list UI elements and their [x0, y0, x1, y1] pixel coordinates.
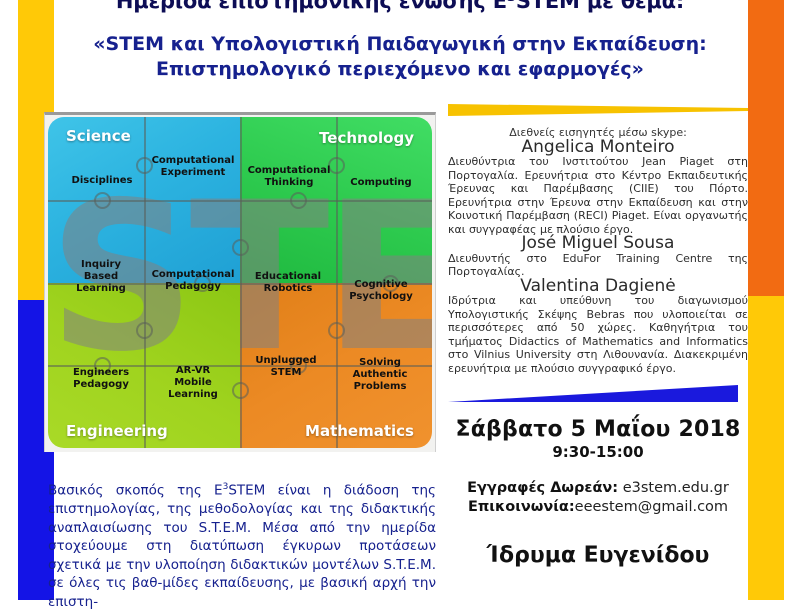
poster-header: Ημερίδα επιστημονικής ένωσης E³STEM με θ…: [60, 0, 740, 82]
right-decorative-bar: [748, 0, 784, 600]
quadrant-label-engineering: Engineering: [66, 422, 168, 440]
right-orange-segment: [748, 0, 784, 296]
speaker-name-1: Angelica Monteiro: [448, 141, 748, 155]
right-column: Διεθνείς εισηγητές μέσω skype: Angelica …: [448, 104, 748, 568]
puzzle-knob-7: [94, 192, 111, 209]
contact-email[interactable]: eeestem@gmail.com: [575, 499, 728, 515]
quadrant-label-mathematics: Mathematics: [305, 422, 414, 440]
puzzle-cell-computational-experiment: ComputationalExperiment: [145, 155, 241, 179]
speaker-entry-1: Angelica Monteiro Διευθύντρια του Ινστιτ…: [448, 141, 748, 237]
header-title-line-a: «STEM και Υπολογιστική Παιδαγωγική στην …: [60, 32, 740, 57]
speaker-name-2: José Miguel Sousa: [448, 237, 748, 251]
speaker-bio-1: Διευθύντρια του Ινστιτούτου Jean Piaget …: [448, 155, 748, 236]
header-title-line-b: Επιστημολογικό περιεχόμενο και εφαρμογές…: [60, 57, 740, 82]
puzzle-cell-unplugged-stem: UnpluggedSTEM: [238, 355, 334, 379]
speaker-entry-3: Valentina Dagienė Ιδρύτρια και υπεύθυνη …: [448, 280, 748, 376]
poster-body-text: Βασικός σκοπός της E3STEM είναι η διάδοσ…: [48, 478, 436, 611]
blue-wedge-divider: [448, 383, 748, 405]
venue-block: Ίδρυμα Ευγενίδου: [448, 543, 748, 568]
speakers-block: Διεθνείς εισηγητές μέσω skype: Angelica …: [448, 126, 748, 375]
puzzle-cell-computational-pedagogy: ComputationalPedagogy: [145, 269, 241, 293]
contact-row: Επικοινωνία:eeestem@gmail.com: [448, 498, 748, 517]
event-time: 9:30-15:00: [448, 443, 748, 461]
registration-row: Εγγραφές Δωρεάν: e3stem.edu.gr: [448, 479, 748, 498]
speaker-name-3: Valentina Dagienė: [448, 280, 748, 294]
stem-puzzle-figure: S T E M Science Technology Engineering M…: [44, 112, 436, 452]
event-date-block: Σάββατο 5 Μαΐου 2018 9:30-15:00: [448, 417, 748, 461]
speaker-entry-2: José Miguel Sousa Διευθυντής στο EduFor …: [448, 237, 748, 279]
yellow-wedge-divider: [448, 104, 748, 118]
registration-label: Εγγραφές Δωρεάν:: [467, 480, 618, 496]
quadrant-label-science: Science: [66, 127, 131, 145]
contact-block: Εγγραφές Δωρεάν: e3stem.edu.gr Επικοινων…: [448, 479, 748, 517]
puzzle-cell-computing: Computing: [333, 177, 429, 189]
speaker-bio-3: Ιδρύτρια και υπεύθυνη του διαγωνισμού Υπ…: [448, 294, 748, 375]
puzzle-cell-solving-authentic: SolvingAuthenticProblems: [332, 357, 428, 393]
header-title: «STEM και Υπολογιστική Παιδαγωγική στην …: [60, 32, 740, 82]
contact-label: Επικοινωνία:: [468, 499, 575, 515]
stem-puzzle: S T E M Science Technology Engineering M…: [48, 117, 432, 448]
right-yellow-segment: [748, 296, 784, 600]
puzzle-cell-computational-thinking: ComputationalThinking: [241, 165, 337, 189]
registration-url[interactable]: e3stem.edu.gr: [623, 480, 729, 496]
speaker-bio-2: Διευθυντής στο EduFor Training Centre τη…: [448, 252, 748, 279]
body-text-before: Βασικός σκοπός της E: [48, 483, 223, 499]
puzzle-cell-inquiry-based-learning: InquiryBasedLearning: [53, 259, 149, 295]
puzzle-cell-engineers-pedagogy: EngineersPedagogy: [53, 367, 149, 391]
puzzle-cell-disciplines: Disciplines: [54, 175, 150, 187]
event-date: Σάββατο 5 Μαΐου 2018: [448, 417, 748, 442]
puzzle-knob-9: [290, 192, 307, 209]
header-line-1: Ημερίδα επιστημονικής ένωσης E³STEM με θ…: [60, 0, 740, 12]
puzzle-cell-ar-vr-mobile-learning: AR-VRMobileLearning: [145, 365, 241, 401]
puzzle-cell-educational-robotics: EducationalRobotics: [240, 271, 336, 295]
venue-name: Ίδρυμα Ευγενίδου: [448, 543, 748, 568]
quadrant-label-technology: Technology: [319, 129, 414, 147]
puzzle-cell-cognitive-psychology: CognitivePsychology: [333, 279, 429, 303]
body-text-after: STEM είναι η διάδοση της επιστημολογίας,…: [48, 483, 436, 610]
